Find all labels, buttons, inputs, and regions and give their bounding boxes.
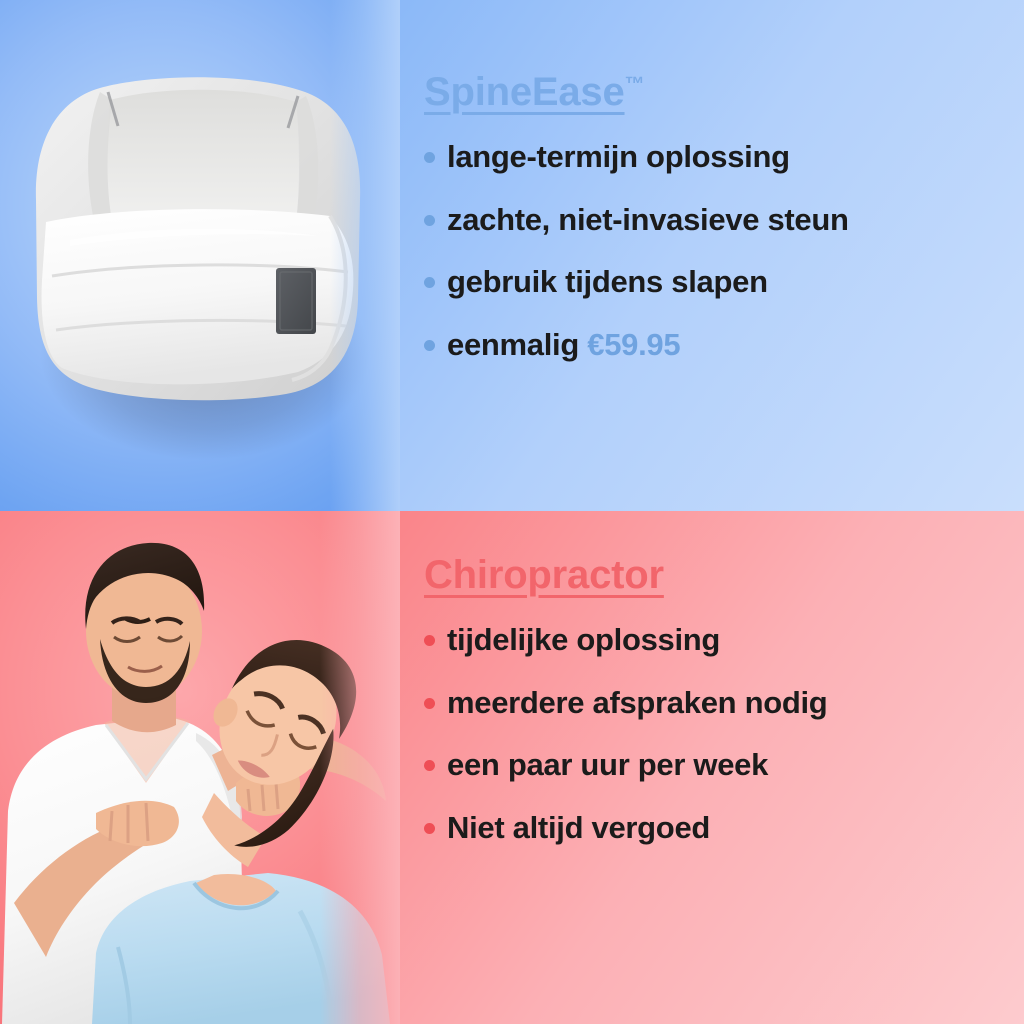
chiropractor-heading-text: Chiropractor [424, 553, 664, 597]
bullet-dot-icon [424, 823, 435, 834]
bullet-dot-icon [424, 698, 435, 709]
chiropractor-bullet-list: tijdelijke oplossing meerdere afspraken … [424, 623, 1000, 874]
chiropractor-bullet-4-text: Niet altijd vergoed [447, 811, 710, 846]
chiropractor-bullet-1-text: tijdelijke oplossing [447, 623, 720, 658]
bullet-dot-icon [424, 152, 435, 163]
chiropractor-content: Chiropractor tijdelijke oplossing meerde… [400, 511, 1024, 1024]
chiropractor-bullet-4: Niet altijd vergoed [424, 811, 1000, 846]
comparison-infographic: SpineEase™ lange-termijn oplossing zacht… [0, 0, 1024, 1024]
product-panel: SpineEase™ lange-termijn oplossing zacht… [0, 0, 1024, 511]
chiropractor-bullet-1: tijdelijke oplossing [424, 623, 1000, 658]
price-value: €59.95 [587, 327, 680, 362]
product-bullet-4: eenmalig €59.95 [424, 328, 1000, 363]
product-bullet-1-text: lange-termijn oplossing [447, 140, 790, 175]
product-content: SpineEase™ lange-termijn oplossing zacht… [400, 0, 1024, 511]
trademark-symbol: ™ [625, 74, 645, 96]
product-bullet-4-text: eenmalig €59.95 [447, 328, 680, 363]
bullet-dot-icon [424, 277, 435, 288]
bullet-dot-icon [424, 215, 435, 226]
product-bullet-3: gebruik tijdens slapen [424, 265, 1000, 300]
product-bullet-2: zachte, niet-invasieve steun [424, 203, 1000, 238]
product-photo-container [0, 0, 400, 511]
product-bullet-1: lange-termijn oplossing [424, 140, 1000, 175]
chiropractor-photo-edge-fade [320, 511, 400, 1024]
bullet-dot-icon [424, 340, 435, 351]
chiropractor-panel: Chiropractor tijdelijke oplossing meerde… [0, 511, 1024, 1024]
price-label: eenmalig [447, 327, 587, 362]
chiropractor-bullet-2: meerdere afspraken nodig [424, 686, 1000, 721]
chiropractor-bullet-2-text: meerdere afspraken nodig [447, 686, 827, 721]
bullet-dot-icon [424, 760, 435, 771]
chiropractor-heading: Chiropractor [424, 555, 1000, 595]
product-bullet-list: lange-termijn oplossing zachte, niet-inv… [424, 140, 1000, 391]
product-heading: SpineEase™ [424, 72, 1000, 112]
product-bullet-2-text: zachte, niet-invasieve steun [447, 203, 849, 238]
chiropractor-bullet-3-text: een paar uur per week [447, 748, 768, 783]
chiropractor-photo [0, 511, 400, 1024]
product-bullet-3-text: gebruik tijdens slapen [447, 265, 768, 300]
product-photo [0, 0, 400, 511]
product-heading-text: SpineEase [424, 70, 625, 114]
product-photo-edge-fade [330, 0, 400, 511]
bullet-dot-icon [424, 635, 435, 646]
chiropractor-bullet-3: een paar uur per week [424, 748, 1000, 783]
chiropractor-photo-container [0, 511, 400, 1024]
